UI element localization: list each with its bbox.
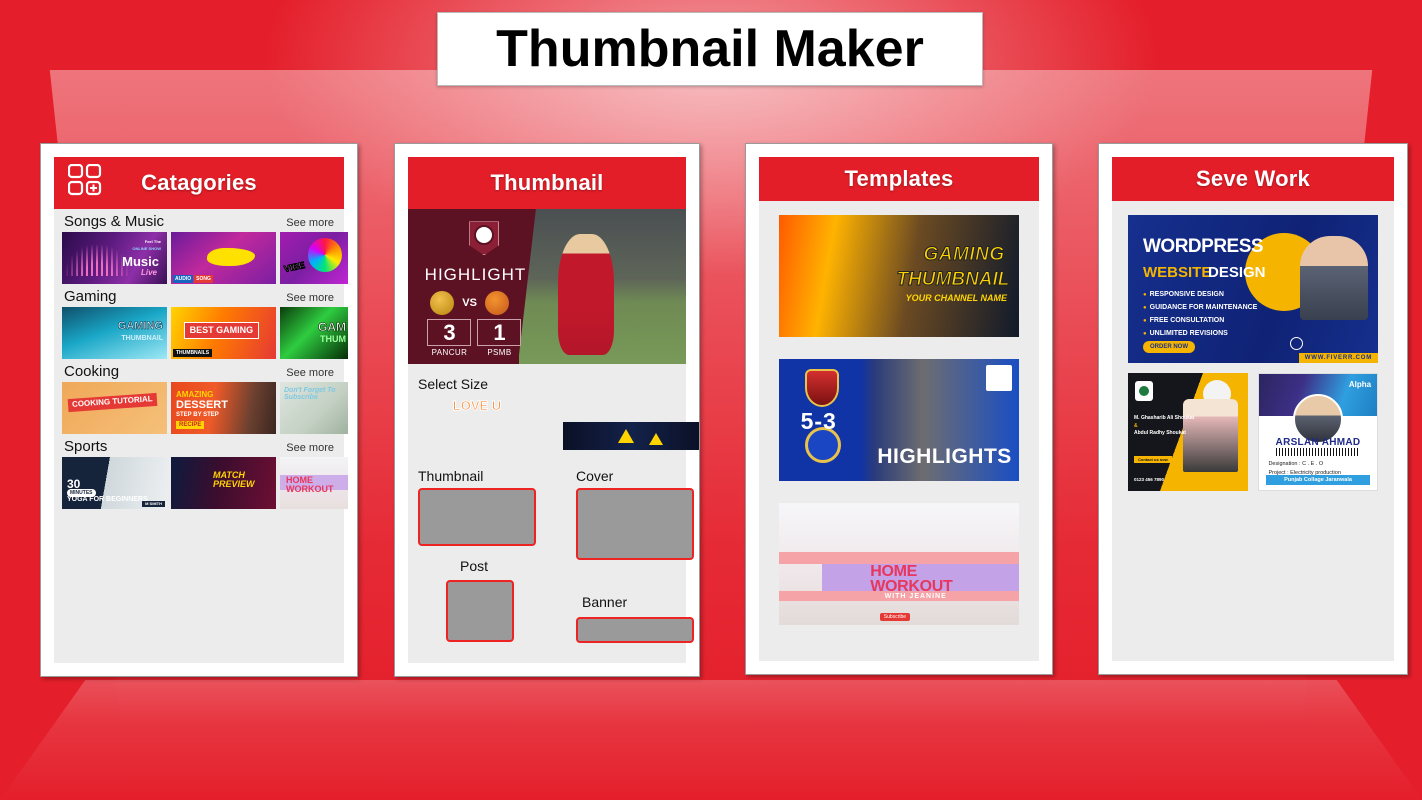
category-thumbs-cooking: COOKING TUTORIAL AMAZING DESSERT STEP BY… [62,382,336,434]
save-work-header: Seve Work [1112,157,1394,201]
category-thumbs-sports: 30 MINUTES YOGA FOR BEGINNERS M SMITH MA… [62,457,336,509]
liverpool-crest-icon [805,369,839,407]
highlight-title: HIGHLIGHT [425,265,527,285]
app-title-box: Thumbnail Maker [437,12,983,86]
wp-bullet-list: RESPONSIVE DESIGN GUIDANCE FOR MAINTENAN… [1143,289,1257,341]
category-label: Cooking [64,363,119,380]
template-home-workout[interactable]: HOME WORKOUT WITH JEANINE Subscribe [779,503,1019,625]
tile-label: COOKING TUTORIAL [68,393,157,412]
size-options-grid: LOVE U Thumbnail Cover Post Banner [408,398,686,658]
cooking-tutorial-thumbnail[interactable]: COOKING TUTORIAL [62,382,167,434]
card-contact-button: Contact us now [1134,456,1172,463]
panel-templates: Templates GAMING THUMBNAIL YOUR CHANNEL … [745,143,1053,675]
saved-business-card[interactable]: M. Ghasharib Ali Shoukat&Abdul Radhy Sho… [1128,373,1248,491]
match-preview-thumbnail[interactable]: MATCHPREVIEW [171,457,276,509]
globe-icon [1290,337,1303,350]
size-label-cover: Cover [576,468,613,484]
tile-sub: THUMBNAILS [173,349,212,357]
id-designation-label: Designation : [1268,461,1300,467]
template-line-1: GAMING [924,244,1005,266]
saved-id-card[interactable]: Alpha ARSLAN AHMAD Designation : C . E .… [1258,373,1378,491]
tile-sub: THUM [320,335,346,344]
tile-sub: THUMBNAIL [121,335,163,342]
thumbnail-sample-preview[interactable]: LOVE U [418,398,536,460]
premier-league-badge-icon [986,365,1012,391]
tile-tag: RECIPE [176,421,204,429]
best-gaming-thumbnail[interactable]: BEST GAMING THUMBNAILS [171,307,276,359]
see-more-songs-music[interactable]: See more [286,217,334,230]
home-team-name: PANCUR [427,348,471,357]
tile-label: GAMING [118,321,163,332]
template-line-2: THUMBNAIL [896,269,1009,291]
id-footer: Punjab Collage Jaranwala [1266,475,1370,485]
category-row-songs-music: Songs & Music See more [62,209,336,232]
home-score: 3 [427,319,471,346]
tile-tag: M SMITH [142,501,165,507]
panel-save-work: Seve Work WORDPRESS WEBSITE DESIGN RESPO… [1098,143,1408,675]
panel-categories: Catagories Songs & Music See more Feel T… [40,143,358,677]
away-score: 1 [477,319,521,346]
home-workout-thumbnail[interactable]: HOME WORKOUT [280,457,348,509]
saved-wordpress-banner[interactable]: WORDPRESS WEBSITE DESIGN RESPONSIVE DESI… [1128,215,1378,363]
tile-label: BEST GAMING [184,322,260,339]
panel-thumbnail: Thumbnail HIGHLIGHT VS 3 [394,143,700,677]
template-line-3: YOUR CHANNEL NAME [906,293,1007,303]
away-team-name: PSMB [477,348,521,357]
template-score: 5-3 [801,408,837,435]
save-work-header-label: Seve Work [1196,166,1310,192]
card-name-1: M. Ghasharib Ali Shoukat [1134,415,1194,421]
tile-label: GAM [318,321,346,333]
tile-label-2: DESSERT [176,399,228,411]
category-thumbs-gaming: GAMING THUMBNAIL BEST GAMING THUMBNAILS … [62,307,336,359]
wp-title-line-2b: DESIGN [1208,264,1266,281]
category-label: Songs & Music [64,213,164,230]
tile-sub: YOGA FOR BEGINNERS [67,496,148,503]
away-team-logo [485,291,509,315]
template-line-3: WITH JEANINE [885,593,947,600]
vs-label: VS [462,297,477,309]
audio-song-thumbnail[interactable]: AUDIOSONG [171,232,276,284]
template-gaming-thumbnail[interactable]: GAMING THUMBNAIL YOUR CHANNEL NAME [779,215,1019,337]
sample-label: LOVE U [453,398,501,413]
template-highlights-label: HIGHLIGHTS [877,445,1012,469]
category-row-sports: Sports See more [62,434,336,457]
tile-label: Music [122,255,159,268]
gaming-thumb-green[interactable]: GAM THUM [280,307,348,359]
wp-title-line-1: WORDPRESS [1143,236,1263,258]
tile-sub: STEP BY STEP [176,412,219,418]
alpha-brand-label: Alpha [1349,380,1371,389]
wp-website-label: WWW.FIVERR.COM [1299,353,1378,363]
templates-header: Templates [759,157,1039,201]
size-option-post[interactable] [446,580,514,642]
free-gaming-thumbnail[interactable]: GAMING THUMBNAIL [62,307,167,359]
thumbnail-header-label: Thumbnail [490,170,603,196]
wp-bullet: GUIDANCE FOR MAINTENANCE [1143,302,1257,315]
category-thumbs-songs-music: Feel The ONLINE SHOW Music Live AUDIOSON… [62,232,336,284]
amazing-dessert-thumbnail[interactable]: AMAZING DESSERT STEP BY STEP RECIPE [171,382,276,434]
tile-label: VIBE [283,261,305,274]
wp-bullet: RESPONSIVE DESIGN [1143,289,1257,302]
template-line-2: WORKOUT [870,579,952,595]
wp-cta-button: ORDER NOW [1143,341,1195,353]
tile-label: AUDIO [173,275,193,283]
category-row-gaming: Gaming See more [62,284,336,307]
thumbnail-header: Thumbnail [408,157,686,209]
categories-header-label: Catagories [141,170,257,196]
category-row-cooking: Cooking See more [62,359,336,382]
id-person-name: ARSLAN AHMAD [1259,437,1377,448]
size-label-banner: Banner [582,594,627,610]
wp-title-line-2a: WEBSITE [1143,264,1211,281]
size-option-thumbnail[interactable] [418,488,536,546]
home-team-logo [430,291,454,315]
tile-label-2: SONG [194,275,213,283]
healthy-food-thumbnail[interactable]: Don't Forget To Subscribe [280,382,348,434]
yoga-beginners-thumbnail[interactable]: 30 MINUTES YOGA FOR BEGINNERS M SMITH [62,457,167,509]
see-more-gaming[interactable]: See more [286,292,334,305]
see-more-cooking[interactable]: See more [286,367,334,380]
company-logo-icon [1135,381,1153,401]
card-name-2: Abdul Radhy Shoukat [1134,430,1186,436]
select-size-label: Select Size [408,364,686,398]
wp-bullet: FREE CONSULTATION [1143,315,1257,328]
subscribe-badge: Subscribe [880,613,910,621]
tile-label: HOME WORKOUT [286,476,348,494]
tile-label-2: PREVIEW [213,479,255,489]
card-phone: 0123 456 7890 [1134,477,1164,482]
size-option-cover[interactable] [576,488,694,560]
id-designation-value: C . E . O [1302,461,1323,467]
category-label: Gaming [64,288,117,305]
card-amp: & [1134,423,1138,429]
categories-header: Catagories [54,157,344,209]
football-highlight-preview[interactable]: HIGHLIGHT VS 3 PANCUR 1 PSMB [408,209,686,364]
music-live-thumbnail[interactable]: Feel The ONLINE SHOW Music Live [62,232,167,284]
see-more-sports[interactable]: See more [286,442,334,455]
template-epl-highlights[interactable]: 5-3 HIGHLIGHTS [779,359,1019,481]
category-label: Sports [64,438,107,455]
tile-label: AMAZING [176,390,213,399]
templates-header-label: Templates [845,166,954,192]
size-option-banner[interactable] [576,617,694,643]
grid-plus-icon [68,164,102,202]
size-label-post: Post [460,558,488,574]
wp-bullet: UNLIMITED REVISIONS [1143,328,1257,341]
page-title: Thumbnail Maker [496,23,924,75]
size-label-thumbnail: Thumbnail [418,468,483,484]
cover-sample-preview[interactable] [563,422,700,450]
tile-label: Don't Forget To Subscribe [284,387,348,401]
barcode-icon [1276,448,1361,456]
vibe-thumbnail[interactable]: VIBE [280,232,348,284]
